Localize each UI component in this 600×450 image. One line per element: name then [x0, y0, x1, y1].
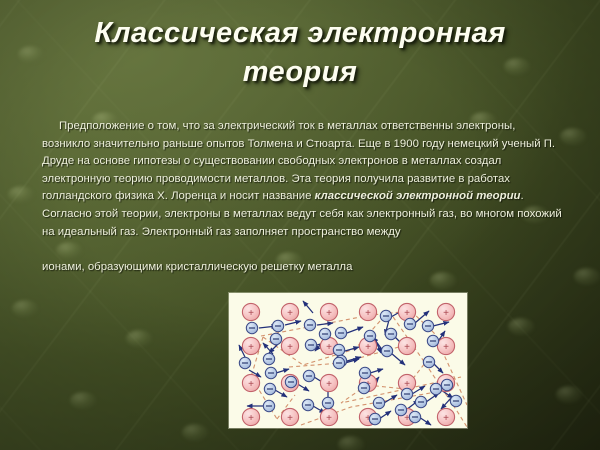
svg-text:+: +: [404, 308, 410, 319]
electron: [364, 330, 375, 341]
ion: +: [398, 303, 415, 320]
electron: [381, 345, 392, 356]
electron: [430, 383, 441, 394]
electron: [263, 353, 274, 364]
ion: +: [281, 408, 298, 425]
ion: +: [281, 303, 298, 320]
svg-text:+: +: [248, 379, 254, 390]
electron: [304, 319, 315, 330]
electron: [305, 339, 316, 350]
electron: [265, 367, 276, 378]
svg-text:+: +: [443, 413, 449, 424]
body-text-emphasis: классической электронной теории: [315, 190, 521, 202]
electron: [333, 357, 344, 368]
electron: [319, 328, 330, 339]
ion: +: [320, 374, 337, 391]
svg-text:+: +: [365, 342, 371, 353]
electron: [369, 413, 380, 424]
body-paragraph-main: Предположение о том, что за электрически…: [42, 118, 562, 241]
svg-text:+: +: [326, 413, 332, 424]
ion: +: [242, 408, 259, 425]
electron: [270, 333, 281, 344]
electron: [333, 344, 344, 355]
electron: [285, 376, 296, 387]
electron: [380, 310, 391, 321]
electron: [246, 322, 257, 333]
electron: [264, 383, 275, 394]
electron: [423, 356, 434, 367]
svg-text:+: +: [404, 342, 410, 353]
electron: [385, 328, 396, 339]
ion: +: [320, 303, 337, 320]
ion: +: [242, 303, 259, 320]
lattice-svg: + + + + + + + + + + + + + + + + + + + +: [229, 293, 467, 428]
electron: [450, 395, 461, 406]
electron: [373, 397, 384, 408]
ion: +: [281, 337, 298, 354]
electron: [263, 400, 274, 411]
electron: [303, 370, 314, 381]
body-paragraph-tail: ионами, образующими кристаллическую реше…: [42, 259, 562, 277]
svg-text:+: +: [326, 308, 332, 319]
electron: [272, 320, 283, 331]
svg-text:+: +: [248, 413, 254, 424]
ion: +: [242, 374, 259, 391]
electron: [335, 327, 346, 338]
svg-text:+: +: [326, 379, 332, 390]
svg-text:+: +: [287, 413, 293, 424]
slide-body-text: Предположение о том, что за электрически…: [42, 118, 562, 276]
ion: +: [359, 303, 376, 320]
svg-text:+: +: [443, 342, 449, 353]
slide-title: Классическая электронная теория: [36, 14, 564, 92]
electron: [395, 404, 406, 415]
svg-text:+: +: [287, 308, 293, 319]
svg-text:+: +: [365, 308, 371, 319]
svg-text:+: +: [287, 342, 293, 353]
electron: [239, 357, 250, 368]
electron: [427, 335, 438, 346]
electron: [302, 399, 313, 410]
electron: [401, 388, 412, 399]
svg-text:+: +: [443, 308, 449, 319]
ion: +: [398, 337, 415, 354]
electron: [322, 397, 333, 408]
presentation-slide: Классическая электронная теория Предполо…: [0, 0, 600, 450]
electron: [441, 379, 452, 390]
ion: +: [437, 337, 454, 354]
electron: [359, 367, 370, 378]
electron: [358, 382, 369, 393]
electron: [415, 396, 426, 407]
electron: [404, 318, 415, 329]
ion: +: [242, 337, 259, 354]
ion: +: [437, 303, 454, 320]
electron: [409, 411, 420, 422]
ion: +: [437, 408, 454, 425]
svg-text:+: +: [326, 342, 332, 353]
ion: +: [320, 408, 337, 425]
svg-text:+: +: [248, 342, 254, 353]
svg-text:+: +: [248, 308, 254, 319]
electron: [422, 320, 433, 331]
crystal-lattice-diagram: + + + + + + + + + + + + + + + + + + + +: [229, 293, 467, 428]
